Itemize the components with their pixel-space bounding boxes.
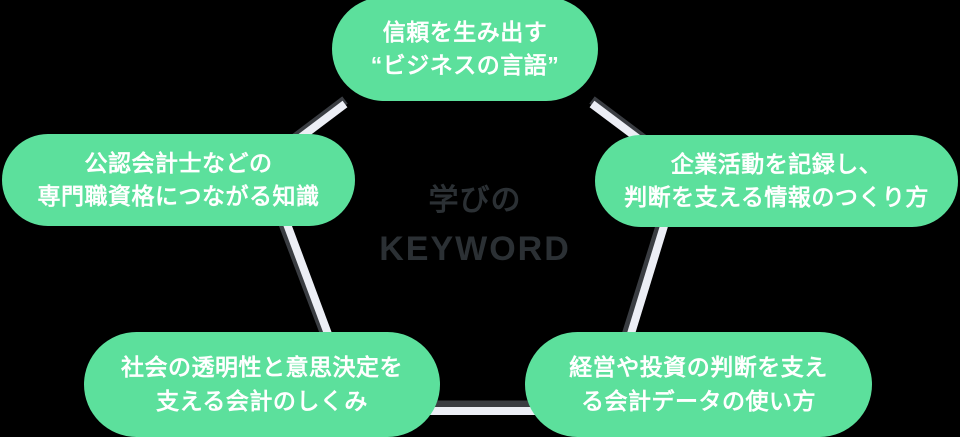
keyword-node-top[interactable]: 信頼を生み出す “ビジネスの言語” — [332, 0, 598, 101]
keyword-pentagon-diagram: 信頼を生み出す “ビジネスの言語” 公認会計士などの 専門職資格につながる知識 … — [0, 0, 960, 437]
keyword-node-bottom-right[interactable]: 経営や投資の判断を支え る会計データの使い方 — [525, 332, 872, 437]
keyword-node-bottom-left-label: 社会の透明性と意思決定を 支える会計のしくみ — [121, 351, 403, 418]
keyword-node-left-label: 公認会計士などの 専門職資格につながる知識 — [38, 147, 320, 214]
keyword-node-top-label: 信頼を生み出す “ビジネスの言語” — [371, 16, 560, 83]
keyword-node-right-label: 企業活動を記録し、 判断を支える情報のつくり方 — [624, 148, 929, 215]
keyword-node-bottom-right-label: 経営や投資の判断を支え る会計データの使い方 — [569, 351, 828, 418]
keyword-node-bottom-left[interactable]: 社会の透明性と意思決定を 支える会計のしくみ — [84, 332, 440, 437]
keyword-node-left[interactable]: 公認会計士などの 専門職資格につながる知識 — [2, 134, 355, 226]
keyword-node-right[interactable]: 企業活動を記録し、 判断を支える情報のつくり方 — [595, 135, 958, 227]
